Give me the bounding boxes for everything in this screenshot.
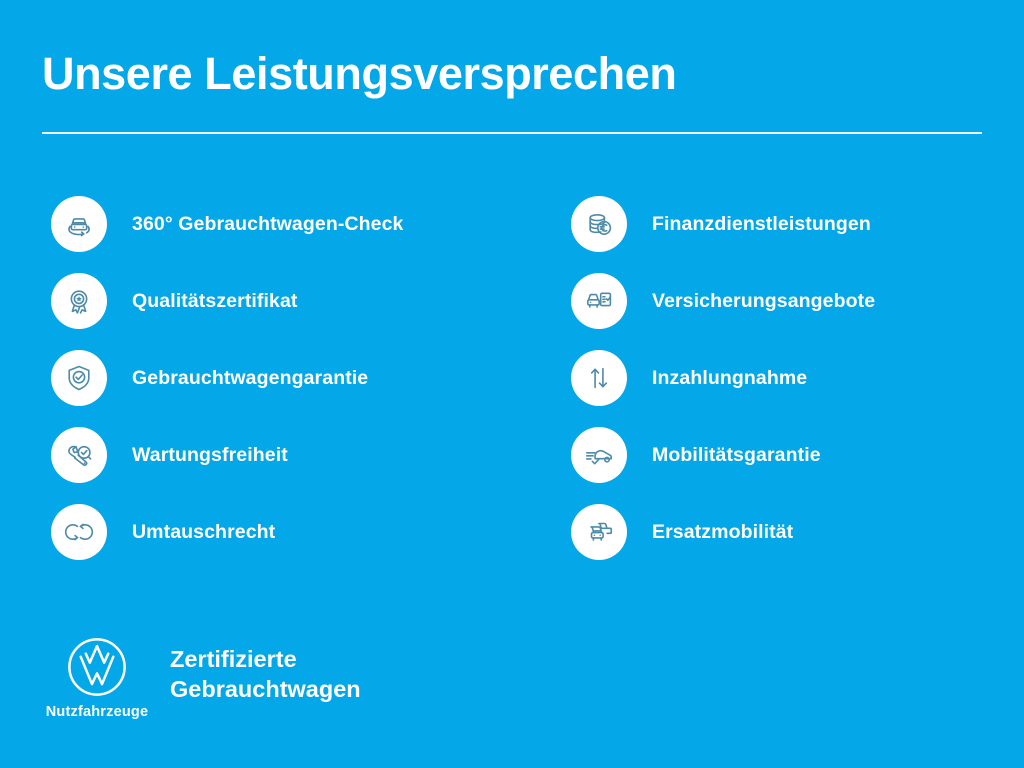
feature-label: Inzahlungnahme [652, 367, 807, 390]
feature-item[interactable]: Finanzdienstleistungen [571, 196, 991, 252]
feature-item[interactable]: Ersatzmobilität [571, 504, 991, 560]
volkswagen-logo-icon [66, 636, 128, 698]
feature-label: Finanzdienstleistungen [652, 213, 871, 236]
feature-item[interactable]: Gebrauchtwagengarantie [51, 350, 521, 406]
feature-columns: 360° Gebrauchtwagen-Check Qualitätszerti… [0, 196, 1024, 581]
shield-check-icon [51, 350, 107, 406]
car-speed-icon [571, 427, 627, 483]
header-divider [42, 132, 982, 134]
feature-column-right: Finanzdienstleistungen Versicherungsange… [571, 196, 991, 581]
header: Unsere Leistungsversprechen [42, 50, 982, 97]
feature-label: Qualitätszertifikat [132, 290, 298, 313]
feature-item[interactable]: Qualitätszertifikat [51, 273, 521, 329]
car-document-check-icon [571, 273, 627, 329]
feature-item[interactable]: Umtauschrecht [51, 504, 521, 560]
feature-label: Umtauschrecht [132, 521, 275, 544]
feature-item[interactable]: 360° Gebrauchtwagen-Check [51, 196, 521, 252]
feature-item[interactable]: Versicherungsangebote [571, 273, 991, 329]
page-title: Unsere Leistungsversprechen [42, 50, 982, 97]
feature-label: Ersatzmobilität [652, 521, 793, 544]
brand-lockup: Nutzfahrzeuge Zertifizierte Gebrauchtwag… [42, 636, 361, 720]
exchange-arrows-icon [51, 504, 107, 560]
feature-label: Versicherungsangebote [652, 290, 875, 313]
wrench-check-icon [51, 427, 107, 483]
feature-column-left: 360° Gebrauchtwagen-Check Qualitätszerti… [51, 196, 521, 581]
feature-item[interactable]: Inzahlungnahme [571, 350, 991, 406]
brand-text: Zertifizierte Gebrauchtwagen [170, 645, 361, 704]
brand-line-2: Gebrauchtwagen [170, 675, 361, 705]
two-cars-icon [571, 504, 627, 560]
car-360-check-icon [51, 196, 107, 252]
feature-label: Gebrauchtwagengarantie [132, 367, 368, 390]
feature-item[interactable]: Wartungsfreiheit [51, 427, 521, 483]
feature-label: Wartungsfreiheit [132, 444, 288, 467]
coins-euro-icon [571, 196, 627, 252]
brand-line-1: Zertifizierte [170, 645, 361, 675]
brand-logo-wrap: Nutzfahrzeuge [42, 636, 152, 720]
arrows-up-down-icon [571, 350, 627, 406]
slide-root: Unsere Leistungsversprechen [0, 0, 1024, 768]
brand-subtitle: Nutzfahrzeuge [46, 704, 149, 720]
feature-label: Mobilitätsgarantie [652, 444, 821, 467]
award-medal-icon [51, 273, 107, 329]
feature-label: 360° Gebrauchtwagen-Check [132, 213, 403, 236]
feature-item[interactable]: Mobilitätsgarantie [571, 427, 991, 483]
